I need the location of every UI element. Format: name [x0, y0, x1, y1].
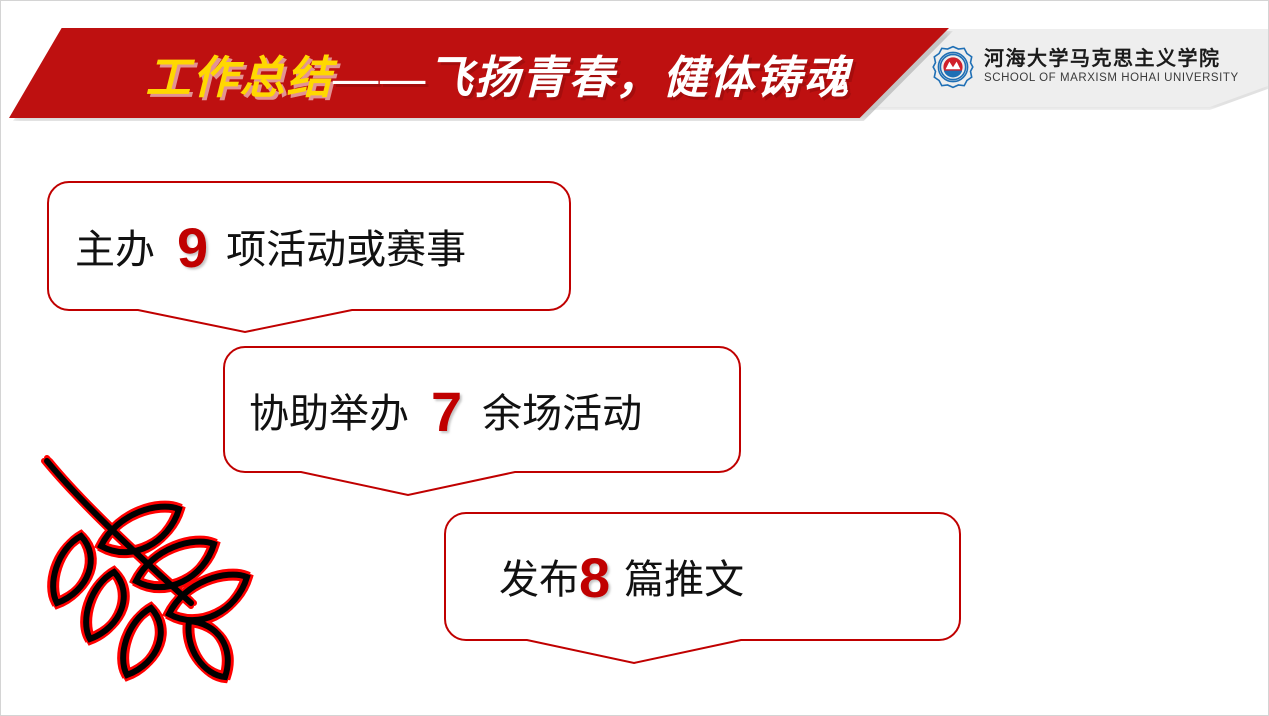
callout-1-label-after: 项活动或赛事: [226, 217, 466, 275]
page-title-segment-secondary: ——飞扬青春，健体铸魂: [334, 41, 851, 106]
callout-bubble-2-text: 协助举办 7 余场活动: [223, 346, 767, 473]
page-title-segment-primary: 工作总结: [145, 41, 333, 106]
organization-name-cn: 河海大学马克思主义学院: [984, 48, 1221, 70]
callout-3-number: 8: [579, 550, 610, 606]
callout-3-label-after: 篇推文: [624, 547, 744, 605]
callout-bubble-3-text: 发布 8 篇推文: [444, 512, 1017, 640]
callout-2-number: 7: [431, 384, 462, 440]
organization-name-en: SCHOOL OF MARXISM HOHAI UNIVERSITY: [984, 72, 1239, 84]
callout-bubble-1-text: 主办 9 项活动或赛事: [47, 181, 599, 311]
callout-3-label-before: 发布: [499, 547, 579, 605]
page-title: 工作总结——飞扬青春，健体铸魂: [9, 28, 949, 118]
callout-1-label-before: 主办: [75, 217, 155, 275]
callout-bubble-1[interactable]: 主办 9 项活动或赛事: [47, 181, 571, 333]
organization-logo: 河海大学马克思主义学院 SCHOOL OF MARXISM HOHAI UNIV…: [931, 45, 1269, 89]
wheat-branch-icon: [39, 451, 254, 683]
callout-bubble-2[interactable]: 协助举办 7 余场活动: [223, 346, 741, 496]
callout-bubble-3[interactable]: 发布 8 篇推文: [444, 512, 962, 664]
slide-header: 工作总结——飞扬青春，健体铸魂: [1, 1, 1269, 141]
organization-name-block: 河海大学马克思主义学院 SCHOOL OF MARXISM HOHAI UNIV…: [984, 49, 1269, 85]
slide-canvas: 工作总结——飞扬青春，健体铸魂: [0, 0, 1269, 716]
hohai-university-emblem-icon: [931, 45, 975, 89]
callout-2-label-before: 协助举办: [249, 381, 409, 439]
callout-2-label-after: 余场活动: [482, 381, 642, 439]
callout-1-number: 9: [177, 220, 208, 276]
